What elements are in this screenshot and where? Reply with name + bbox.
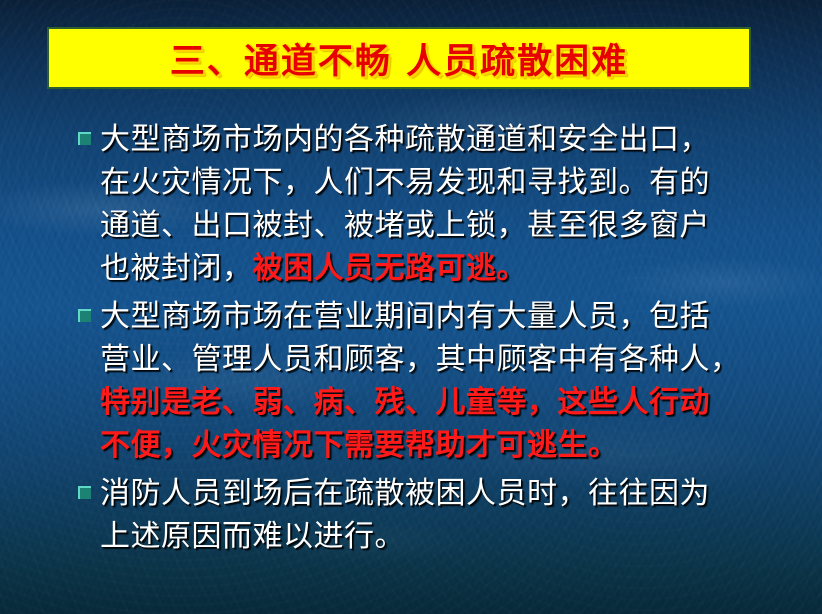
presentation-slide: 三、通道不畅 人员疏散困难 大型商场市场内的各种疏散通道和安全出口， 在火灾情况… [0,0,822,614]
body-line-text: 在火灾情况下，人们不易发现和寻找到。有的 [100,165,710,200]
body-line: 不便，火灾情况下需要帮助才可逃生。 [100,424,794,467]
slide-body: 大型商场市场内的各种疏散通道和安全出口， 在火灾情况下，人们不易发现和寻找到。有… [0,118,822,563]
slide-title-banner: 三、通道不畅 人员疏散困难 [47,27,751,89]
body-line: 在火灾情况下，人们不易发现和寻找到。有的 [100,161,794,204]
body-line-text: 上述原因而难以进行。 [100,519,405,554]
bullet-paragraph-2: 大型商场市场在营业期间内有大量人员，包括 营业、管理人员和顾客，其中顾客中有各种… [0,295,822,467]
body-line-highlight: 特别是老、弱、病、残、儿童等，这些人行动 [100,385,710,420]
body-line: 大型商场市场内的各种疏散通道和安全出口， [100,118,794,161]
body-line-text: 营业、管理人员和顾客，其中顾客中有各种人， [100,342,741,377]
body-line-text: 大型商场市场内的各种疏散通道和安全出口， [100,122,710,157]
square-bullet-icon [78,486,91,499]
body-line-highlight: 被困人员无路可逃。 [253,251,528,286]
body-line: 营业、管理人员和顾客，其中顾客中有各种人， [100,338,794,381]
body-line-text: 大型商场市场在营业期间内有大量人员，包括 [100,299,710,334]
bullet-paragraph-3: 消防人员到场后在疏散被困人员时，往往因为 上述原因而难以进行。 [0,472,822,558]
square-bullet-icon [78,309,91,322]
body-line: 特别是老、弱、病、残、儿童等，这些人行动 [100,381,794,424]
slide-title: 三、通道不畅 人员疏散困难 [170,33,628,84]
body-line-highlight: 不便，火灾情况下需要帮助才可逃生。 [100,428,619,463]
body-line-text: 也被封闭， [100,251,253,286]
body-line: 大型商场市场在营业期间内有大量人员，包括 [100,295,794,338]
body-line-text: 通道、出口被封、被堵或上锁，甚至很多窗户 [100,208,710,243]
body-line: 也被封闭，被困人员无路可逃。 [100,247,794,290]
square-bullet-icon [78,132,91,145]
body-line: 通道、出口被封、被堵或上锁，甚至很多窗户 [100,204,794,247]
body-line: 上述原因而难以进行。 [100,515,794,558]
bullet-paragraph-1: 大型商场市场内的各种疏散通道和安全出口， 在火灾情况下，人们不易发现和寻找到。有… [0,118,822,290]
body-line-text: 消防人员到场后在疏散被困人员时，往往因为 [100,476,710,511]
body-line: 消防人员到场后在疏散被困人员时，往往因为 [100,472,794,515]
